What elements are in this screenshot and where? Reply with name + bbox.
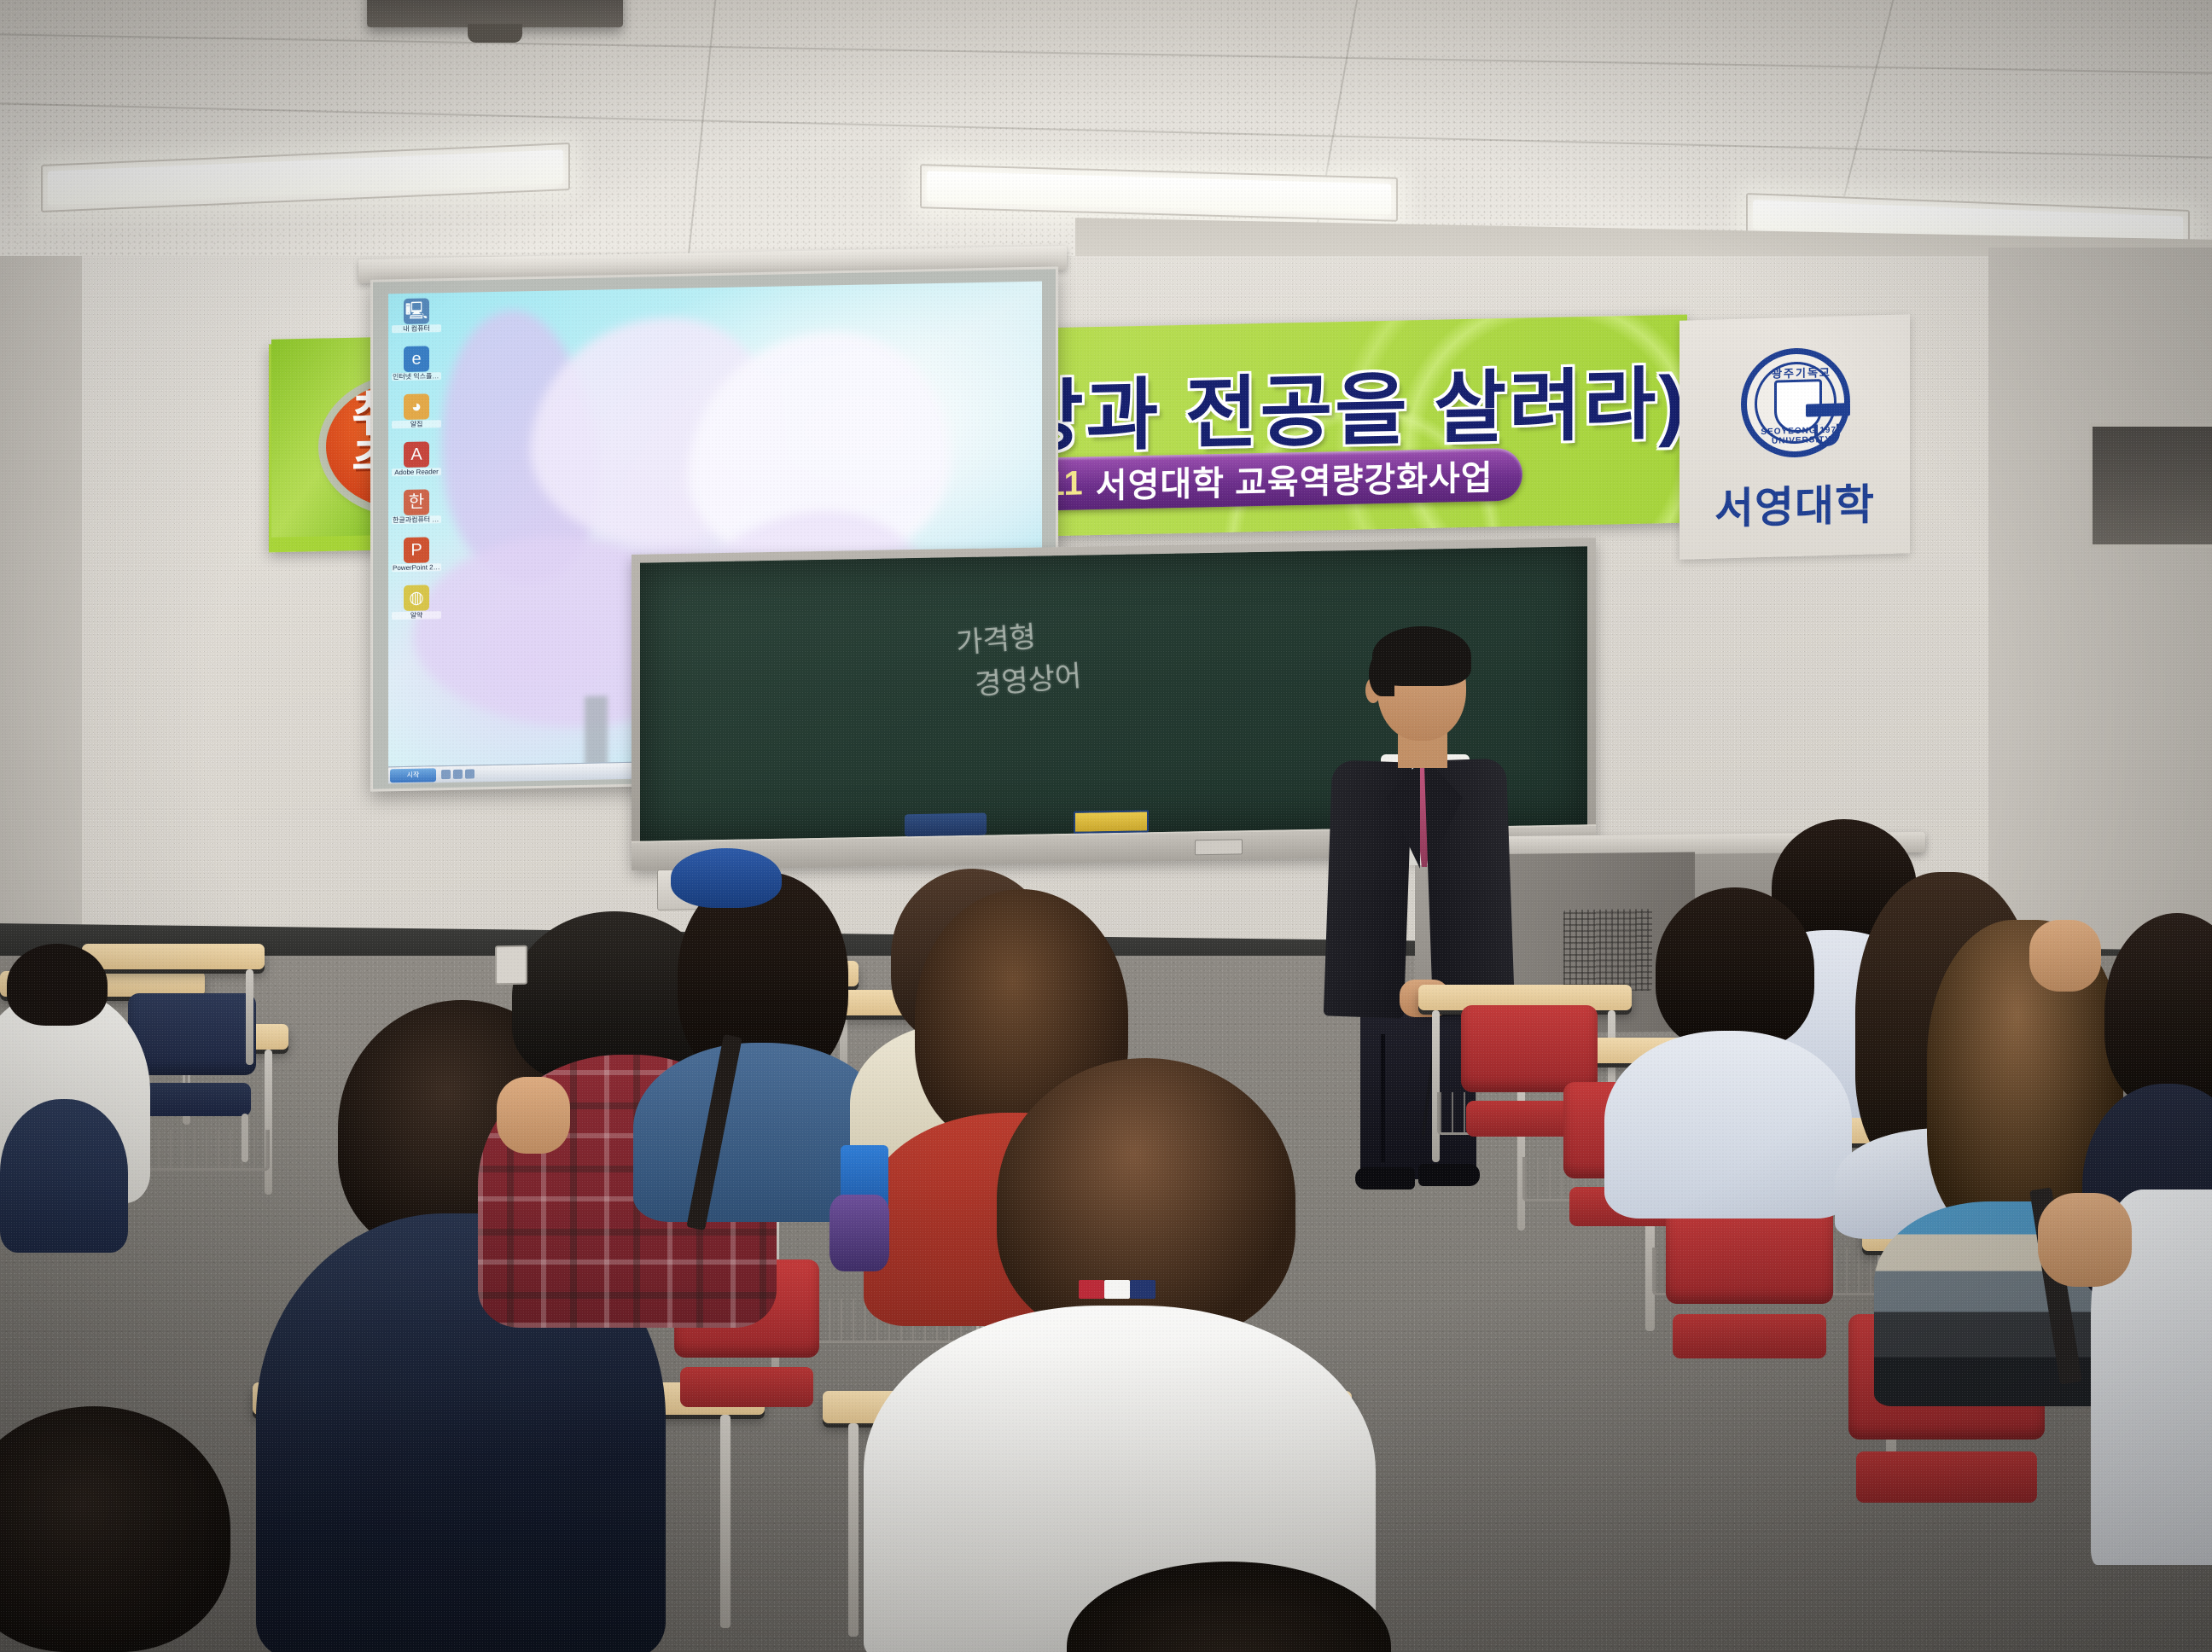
desktop-icon-label: 알약 bbox=[392, 611, 441, 619]
desktop-icon-label: Adobe Reader bbox=[392, 468, 441, 476]
banner-badge-text: 서영대학 교육역량강화사업 bbox=[1096, 450, 1493, 508]
adobe-reader-icon: A bbox=[404, 441, 429, 468]
desktop-icon-label: 내 컴퓨터 bbox=[392, 324, 441, 333]
shoulder-bag-strap bbox=[705, 1034, 724, 1230]
university-logo-panel: 광주기독교 SEOYEONG 1978 UNIVERSITY 서영대학 bbox=[1679, 314, 1910, 560]
student bbox=[0, 1099, 128, 1253]
desktop-icon-label: 인터넷 익스플로러 bbox=[392, 372, 441, 381]
desktop-icon-hangul[interactable]: 한 한글과컴퓨터 한글 2010 bbox=[392, 489, 441, 524]
projector bbox=[367, 0, 623, 27]
alzip-icon: ◕ bbox=[404, 393, 429, 420]
quick-launch-icon[interactable] bbox=[441, 770, 451, 779]
classroom-photo-scene: 업 후 전망과 전공을 살려라) 1:00 2011 서영대학 교육역량강화사업… bbox=[0, 0, 2212, 1652]
presenter-shoe bbox=[1418, 1164, 1480, 1186]
student-hand bbox=[2038, 1193, 2132, 1287]
powerpoint-icon: P bbox=[404, 537, 429, 563]
chair[interactable] bbox=[1666, 1195, 1833, 1365]
wall-outlet bbox=[495, 945, 527, 986]
wallpaper-stem bbox=[585, 696, 608, 766]
desktop-icon-label: 한글과컴퓨터 한글 2010 bbox=[392, 515, 441, 524]
student-hand bbox=[497, 1077, 570, 1154]
chalk-box[interactable] bbox=[1074, 810, 1149, 834]
brand-logo bbox=[1079, 1280, 1161, 1314]
student-hand bbox=[2029, 920, 2101, 992]
start-button[interactable]: 시작 bbox=[390, 768, 436, 782]
university-crest-icon: 광주기독교 SEOYEONG 1978 UNIVERSITY bbox=[1741, 346, 1850, 459]
right-wall-window bbox=[2089, 423, 2212, 548]
student bbox=[0, 1406, 230, 1652]
crest-shield-icon bbox=[1774, 379, 1822, 433]
left-wall bbox=[0, 256, 82, 1007]
chalkboard-text: 가격형 bbox=[954, 613, 1037, 661]
desktop-icon-alyac[interactable]: ◍ 알약 bbox=[392, 585, 441, 619]
quick-launch-icon[interactable] bbox=[453, 770, 463, 779]
crest-bar bbox=[1806, 403, 1850, 416]
desktop-icon-my-computer[interactable]: 🖳 내 컴퓨터 bbox=[392, 298, 441, 333]
blackboard-eraser[interactable] bbox=[905, 813, 987, 837]
alyac-icon: ◍ bbox=[404, 585, 429, 611]
hair-bow bbox=[671, 848, 782, 908]
chalkboard-text: 경영상어 bbox=[973, 652, 1082, 703]
my-computer-icon: 🖳 bbox=[404, 298, 429, 324]
crest-bottom-text: SEOYEONG 1978 UNIVERSITY bbox=[1747, 425, 1856, 447]
desktop-icon-label: PowerPoint 2010 bbox=[392, 563, 441, 572]
desktop-icon-adobe-reader[interactable]: A Adobe Reader bbox=[392, 441, 441, 476]
desktop-icon-label: 알집 bbox=[392, 420, 441, 428]
presenter-hair bbox=[1372, 626, 1471, 686]
quick-launch-icon[interactable] bbox=[465, 769, 474, 778]
desktop-icon-alzip[interactable]: ◕ 알집 bbox=[392, 393, 441, 428]
desktop-icon-internet-explorer[interactable]: e 인터넷 익스플로러 bbox=[392, 346, 441, 381]
board-control-plate[interactable] bbox=[1195, 839, 1243, 855]
student bbox=[1604, 887, 1852, 1212]
hangul-icon: 한 bbox=[404, 489, 429, 515]
quick-launch-bar[interactable] bbox=[441, 769, 474, 779]
desktop-icon-powerpoint[interactable]: P PowerPoint 2010 bbox=[392, 537, 441, 572]
university-name: 서영대학 bbox=[1679, 469, 1910, 538]
student bbox=[1067, 1562, 1391, 1652]
internet-explorer-icon: e bbox=[404, 346, 429, 372]
